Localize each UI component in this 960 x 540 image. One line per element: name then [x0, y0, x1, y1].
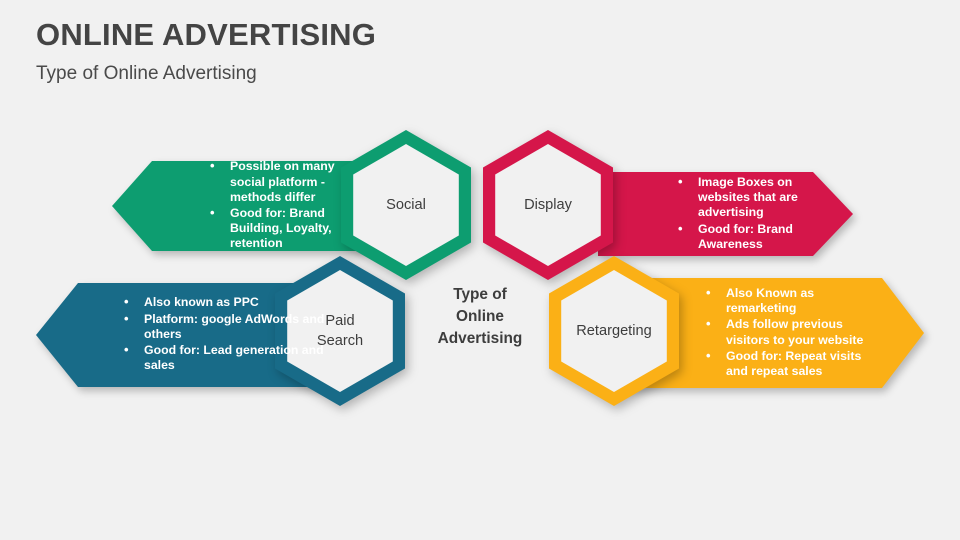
- list-item: Good for: Brand Building, Loyalty, reten…: [202, 206, 346, 252]
- center-label-line-2: Online: [412, 306, 548, 328]
- list-item: Also known as PPC: [116, 295, 328, 310]
- list-item: Good for: Repeat visits and repeat sales: [698, 349, 878, 379]
- list-item: Also Known as remarketing: [698, 286, 878, 316]
- list-item: Possible on many social platform - metho…: [202, 159, 346, 205]
- list-item: Image Boxes on websites that are adverti…: [670, 175, 813, 221]
- list-item: Good for: Brand Awareness: [670, 222, 813, 252]
- hexagon-retargeting[interactable]: Retargeting: [549, 256, 679, 406]
- hexagon-diagram: Possible on many social platform - metho…: [0, 0, 960, 540]
- banner-social-bullets: Possible on many social platform - metho…: [154, 159, 346, 252]
- banner-social[interactable]: Possible on many social platform - metho…: [112, 161, 364, 251]
- hexagon-retargeting-inner: [549, 256, 679, 406]
- list-item: Ads follow previous visitors to your web…: [698, 317, 878, 347]
- center-label-line-3: Advertising: [412, 328, 548, 350]
- list-item: Platform: google AdWords and others: [116, 312, 328, 342]
- banner-retargeting-bullets: Also Known as remarketing Ads follow pre…: [684, 286, 878, 380]
- banner-display-bullets: Image Boxes on websites that are adverti…: [634, 175, 813, 253]
- center-label: Type of Online Advertising: [412, 284, 548, 350]
- banner-paid-search[interactable]: Also known as PPC Platform: google AdWor…: [36, 283, 346, 387]
- banner-paid-search-bullets: Also known as PPC Platform: google AdWor…: [78, 295, 328, 374]
- list-item: Good for: Lead generation and sales: [116, 343, 328, 373]
- banner-display[interactable]: Image Boxes on websites that are adverti…: [598, 172, 853, 256]
- center-label-line-1: Type of: [412, 284, 548, 306]
